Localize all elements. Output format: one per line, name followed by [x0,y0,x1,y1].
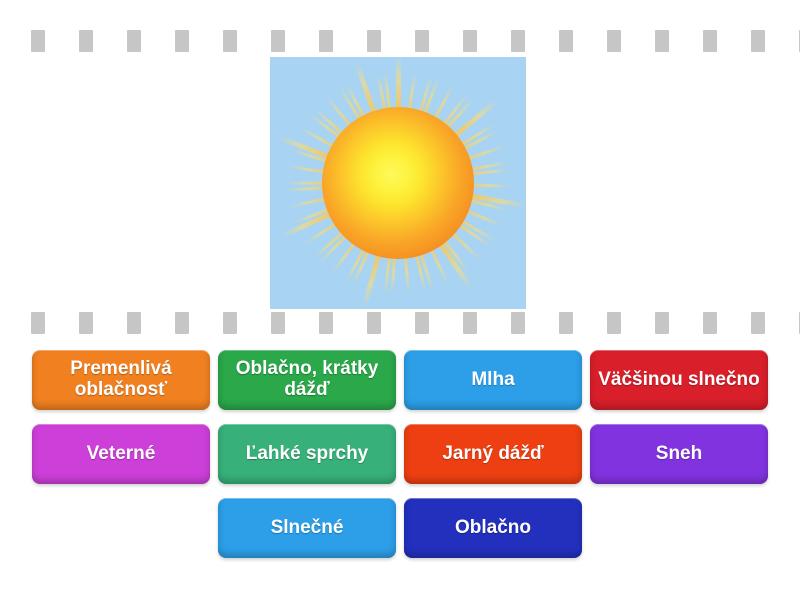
film-perforation [271,312,285,334]
film-perforation [751,312,765,334]
answer-tile[interactable]: Ľahké sprchy [218,424,396,484]
media-image-sun[interactable] [270,57,526,309]
answer-tile-row: VeternéĽahké sprchyJarný dážďSneh [0,424,800,484]
film-perforation [703,30,717,52]
film-perforation [367,312,381,334]
film-perforation [511,312,525,334]
film-perforation [31,30,45,52]
film-perforation [655,312,669,334]
film-perforation [655,30,669,52]
answer-tile-label: Veterné [38,444,204,465]
answer-tile-label: Väčšinou slnečno [596,370,762,391]
film-perforation [463,30,477,52]
film-perforation [127,312,141,334]
film-perforation [175,30,189,52]
film-perforation [607,312,621,334]
answer-tile-row: Premenlivá oblačnosťOblačno, krátky dážď… [0,350,800,410]
film-perforation [415,312,429,334]
answer-tile-label: Premenlivá oblačnosť [38,359,204,400]
film-perforation [463,312,477,334]
film-perforation [415,30,429,52]
film-strip-top [0,30,800,52]
answer-tile-row: SlnečnéOblačno [0,498,800,558]
film-perforation [31,312,45,334]
film-perforation [319,30,333,52]
answer-tile-label: Jarný dážď [410,444,576,465]
answer-tile-label: Mlha [410,370,576,391]
answer-tile[interactable]: Väčšinou slnečno [590,350,768,410]
answer-tile[interactable]: Slnečné [218,498,396,558]
answer-tile-label: Oblačno, krátky dážď [224,359,390,400]
film-perforation [367,30,381,52]
film-perforation [511,30,525,52]
answer-tile-label: Sneh [596,444,762,465]
answer-tile[interactable]: Jarný dážď [404,424,582,484]
film-perforation [703,312,717,334]
answer-tile[interactable]: Oblačno, krátky dážď [218,350,396,410]
film-perforation [79,312,93,334]
film-perforation [223,312,237,334]
film-perforation [223,30,237,52]
answer-tile[interactable]: Oblačno [404,498,582,558]
app-stage: Premenlivá oblačnosťOblačno, krátky dážď… [0,0,800,600]
film-perforation [175,312,189,334]
answer-tile[interactable]: Premenlivá oblačnosť [32,350,210,410]
film-perforation [607,30,621,52]
answer-tile-grid: Premenlivá oblačnosťOblačno, krátky dážď… [0,350,800,572]
answer-tile[interactable]: Veterné [32,424,210,484]
film-perforation [559,312,573,334]
sun-disc-icon [322,107,474,259]
sun-illustration [283,68,513,298]
film-perforation [559,30,573,52]
answer-tile[interactable]: Mlha [404,350,582,410]
film-perforation [79,30,93,52]
answer-tile-label: Oblačno [410,518,576,539]
answer-tile-label: Ľahké sprchy [224,444,390,465]
film-perforation [271,30,285,52]
film-perforation [319,312,333,334]
answer-tile[interactable]: Sneh [590,424,768,484]
film-perforation [127,30,141,52]
film-perforation [751,30,765,52]
film-strip-bottom [0,312,800,334]
answer-tile-label: Slnečné [224,518,390,539]
